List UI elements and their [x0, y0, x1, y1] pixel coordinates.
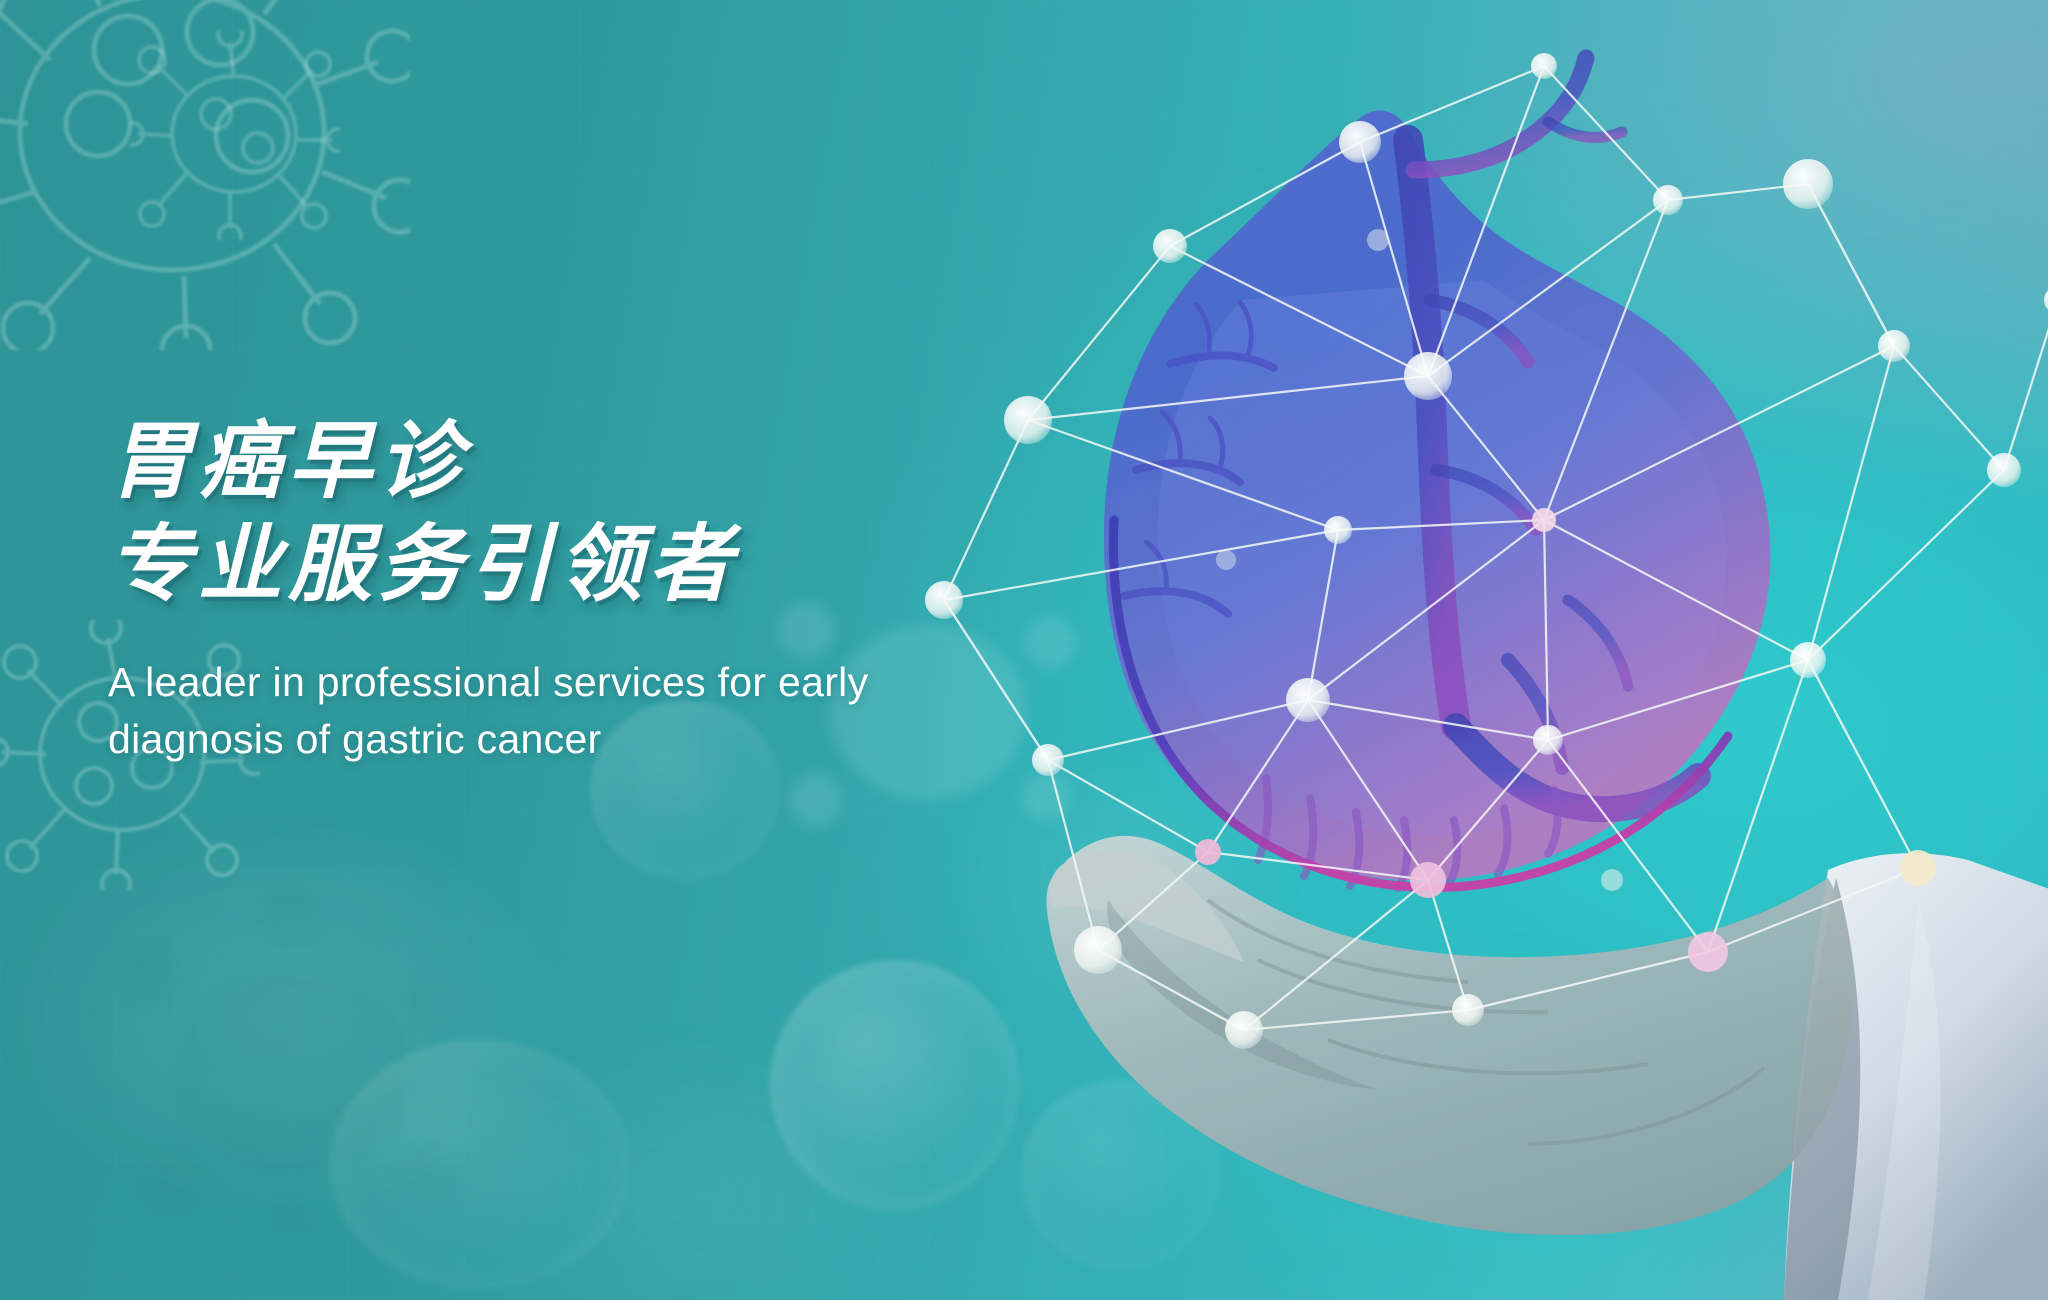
- cell-bubble-icon: [770, 960, 1020, 1210]
- cell-bubble-icon: [1020, 1080, 1220, 1270]
- cell-bubble-icon: [330, 1040, 630, 1290]
- subtitle: A leader in professional services for ea…: [108, 654, 918, 767]
- hero-banner: 胃癌早诊 专业服务引领者 A leader in professional se…: [0, 0, 2048, 1300]
- subtitle-line2: diagnosis of gastric cancer: [108, 711, 918, 768]
- page-title-line1: 胃癌早诊: [108, 412, 1128, 511]
- page-title-line2: 专业服务引领者: [108, 515, 1128, 614]
- subtitle-line1: A leader in professional services for ea…: [108, 654, 918, 711]
- virus-icon: [130, 30, 340, 240]
- hero-copy: 胃癌早诊 专业服务引领者 A leader in professional se…: [108, 412, 1128, 767]
